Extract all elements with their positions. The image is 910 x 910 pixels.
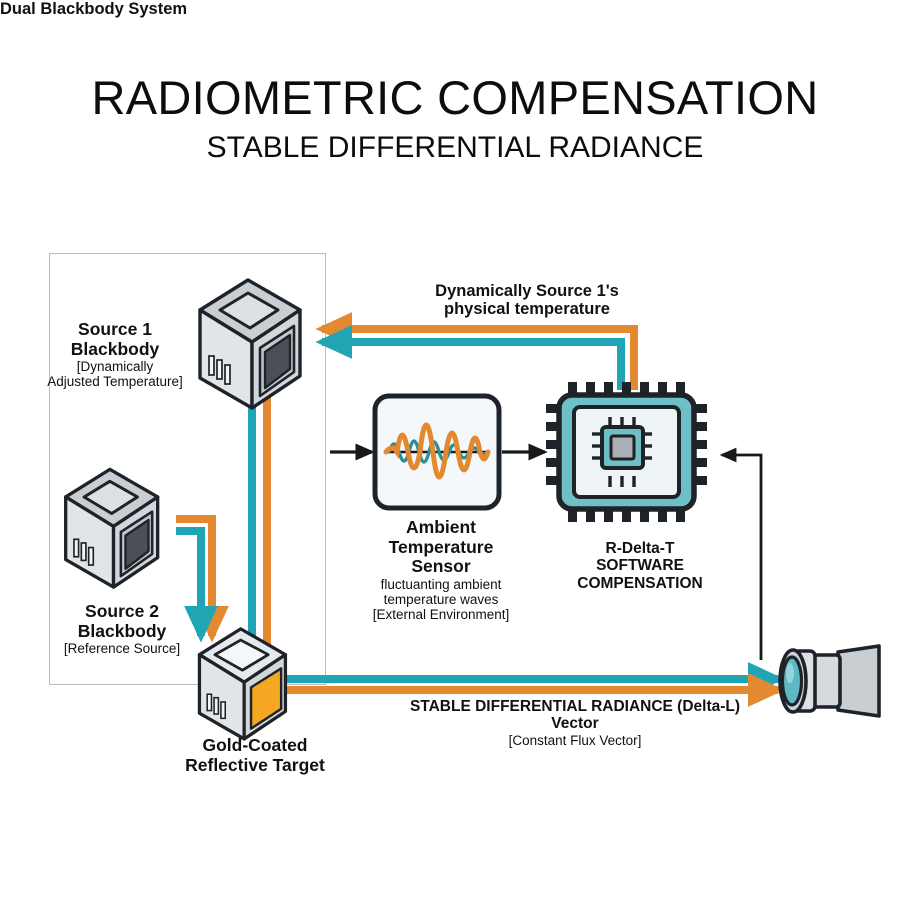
camera-icon (780, 646, 879, 716)
flow-source1-to-target (252, 392, 267, 654)
source2-name: Source 2 (22, 602, 222, 622)
target-name: Gold-Coated (155, 736, 355, 756)
source1-name2: Blackbody (20, 340, 210, 360)
software-label: R-Delta-T SOFTWARE COMPENSATION (540, 540, 740, 592)
diagram-canvas: RADIOMETRIC COMPENSATION STABLE DIFFEREN… (0, 0, 910, 910)
feedback-flow-label: Dynamically Source 1's physical temperat… (382, 282, 672, 319)
output-note: [Constant Flux Vector] (370, 733, 780, 748)
sensor-note3: [External Environment] (352, 607, 530, 622)
sensor-name: Ambient (352, 518, 530, 538)
ambient-sensor-icon (375, 396, 499, 508)
sensor-note2: temperature waves (352, 592, 530, 607)
output-line2: Vector (370, 715, 780, 732)
source2-blackbody-icon (66, 469, 158, 587)
source2-name2: Blackbody (22, 622, 222, 642)
output-line1: STABLE DIFFERENTIAL RADIANCE (Delta-L) (370, 698, 780, 715)
sensor-name2: Temperature (352, 538, 530, 558)
source1-label: Source 1 Blackbody [Dynamically Adjusted… (20, 320, 210, 389)
source2-label: Source 2 Blackbody [Reference Source] (22, 602, 222, 656)
cpu-chip-icon (546, 382, 707, 522)
flow-feedback-to-source1 (322, 329, 634, 390)
source1-name: Source 1 (20, 320, 210, 340)
software-name: R-Delta-T (540, 540, 740, 557)
sensor-label: Ambient Temperature Sensor fluctuanting … (352, 518, 530, 622)
feedback-line1: Dynamically Source 1's (382, 282, 672, 300)
diagram-graphics (0, 0, 910, 910)
source1-blackbody-icon (200, 280, 300, 408)
sensor-name3: Sensor (352, 557, 530, 577)
source2-note: [Reference Source] (22, 641, 222, 656)
feedback-line2: physical temperature (382, 300, 672, 318)
source1-note1: [Dynamically (20, 359, 210, 374)
target-name2: Reflective Target (155, 756, 355, 776)
flow-target-to-camera (286, 679, 778, 690)
output-flow-label: STABLE DIFFERENTIAL RADIANCE (Delta-L) V… (370, 698, 780, 748)
sensor-note1: fluctuanting ambient (352, 577, 530, 592)
target-label: Gold-Coated Reflective Target (155, 736, 355, 775)
source1-note2: Adjusted Temperature] (20, 374, 210, 389)
software-name2: SOFTWARE (540, 557, 740, 574)
software-name3: COMPENSATION (540, 575, 740, 592)
